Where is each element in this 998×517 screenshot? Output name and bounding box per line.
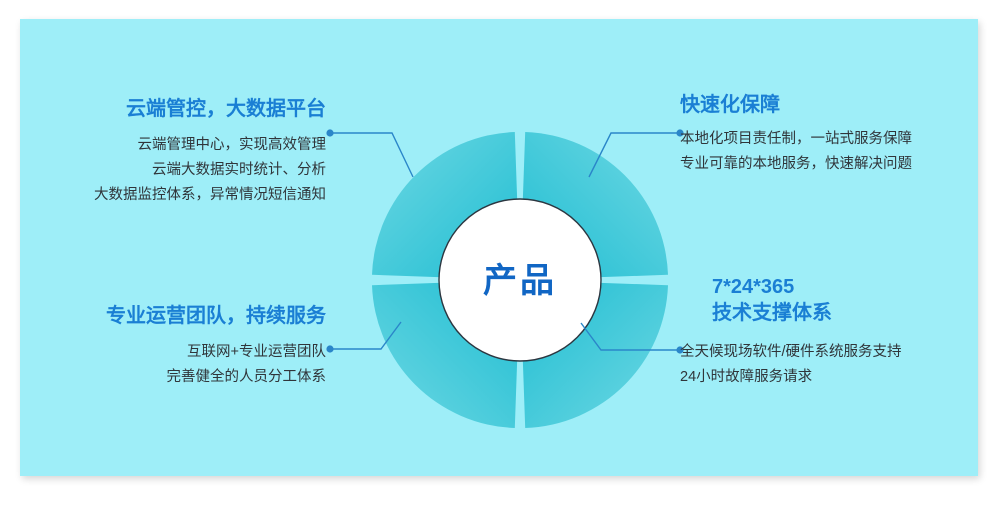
infographic-canvas: 产品 云端管控，大数据平台 云端管理中心，实现高效管理 云端大数据实时统计、分析 xyxy=(0,0,998,517)
feature-body-line: 24小时故障服务请求 xyxy=(680,365,992,390)
feature-heading-line: 技术支撑体系 xyxy=(712,301,992,327)
feature-block-technical-support: 7*24*365 技术支撑体系 全天候现场软件/硬件系统服务支持 24小时故障服… xyxy=(712,275,992,390)
feature-body-line: 云端大数据实时统计、分析 xyxy=(8,158,326,183)
feature-block-professional-team: 专业运营团队，持续服务 互联网+专业运营团队 完善健全的人员分工体系 xyxy=(8,303,326,390)
center-circle xyxy=(439,199,601,361)
feature-heading-line: 7*24*365 xyxy=(712,275,992,301)
feature-body-line: 云端管理中心，实现高效管理 xyxy=(8,133,326,158)
feature-heading-professional-team: 专业运营团队，持续服务 xyxy=(8,303,326,330)
feature-body-professional-team: 互联网+专业运营团队 完善健全的人员分工体系 xyxy=(8,340,326,390)
feature-body-fast-guarantee: 本地化项目责任制，一站式服务保障 专业可靠的本地服务，快速解决问题 xyxy=(680,127,980,177)
feature-body-line: 完善健全的人员分工体系 xyxy=(8,365,326,390)
feature-body-line: 本地化项目责任制，一站式服务保障 xyxy=(680,127,980,152)
donut-graphic xyxy=(352,112,688,448)
feature-body-line: 大数据监控体系，异常情况短信通知 xyxy=(8,183,326,208)
feature-body-technical-support: 全天候现场软件/硬件系统服务支持 24小时故障服务请求 xyxy=(680,340,992,390)
infographic-card: 产品 xyxy=(20,19,978,476)
feature-block-cloud-management: 云端管控，大数据平台 云端管理中心，实现高效管理 云端大数据实时统计、分析 大数… xyxy=(8,96,326,208)
donut-svg xyxy=(352,112,688,448)
feature-heading-fast-guarantee: 快速化保障 xyxy=(680,92,980,119)
feature-body-cloud-management: 云端管理中心，实现高效管理 云端大数据实时统计、分析 大数据监控体系，异常情况短… xyxy=(8,133,326,208)
feature-body-line: 互联网+专业运营团队 xyxy=(8,340,326,365)
feature-heading-technical-support: 7*24*365 技术支撑体系 xyxy=(712,275,992,326)
feature-block-fast-guarantee: 快速化保障 本地化项目责任制，一站式服务保障 专业可靠的本地服务，快速解决问题 xyxy=(680,92,980,177)
feature-body-line: 全天候现场软件/硬件系统服务支持 xyxy=(680,340,992,365)
feature-body-line: 专业可靠的本地服务，快速解决问题 xyxy=(680,152,980,177)
feature-heading-cloud-management: 云端管控，大数据平台 xyxy=(8,96,326,123)
